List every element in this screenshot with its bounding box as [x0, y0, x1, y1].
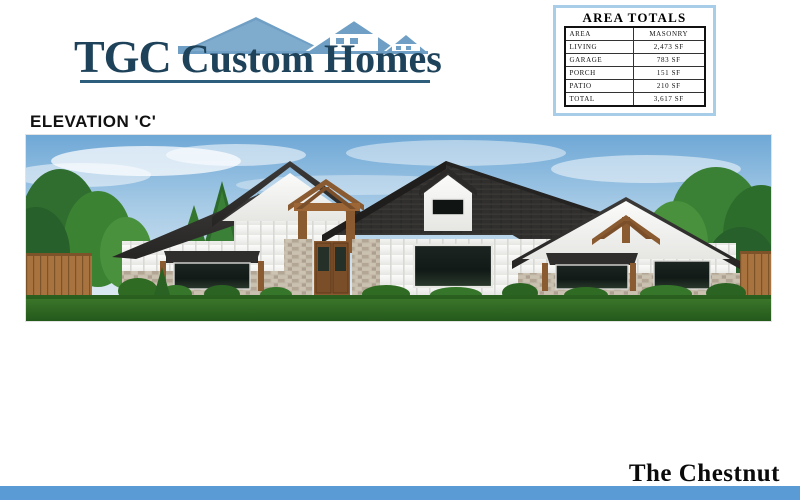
row-label-garage: GARAGE: [565, 54, 634, 67]
logo-name-rest: Custom Homes: [171, 36, 442, 81]
table-row: PATIO 210 SF: [565, 80, 705, 93]
table-row: GARAGE 783 SF: [565, 54, 705, 67]
column-header-masonry: MASONRY: [633, 27, 704, 41]
table-header-row: AREA MASONRY: [565, 27, 705, 41]
footer-accent-bar: [0, 486, 800, 500]
row-label-porch: PORCH: [565, 67, 634, 80]
row-value-garage: 783 SF: [633, 54, 704, 67]
row-value-total: 3,617 SF: [633, 93, 704, 107]
table-row: PORCH 151 SF: [565, 67, 705, 80]
tgc-custom-homes-logo: TGC Custom Homes: [74, 8, 434, 90]
row-label-living: LIVING: [565, 41, 634, 54]
table-row: LIVING 2,473 SF: [565, 41, 705, 54]
row-value-patio: 210 SF: [633, 80, 704, 93]
plan-name-title: The Chestnut: [629, 460, 780, 488]
elevation-label: ELEVATION 'C': [30, 112, 156, 132]
front-elevation-rendering: [25, 134, 772, 322]
row-value-living: 2,473 SF: [633, 41, 704, 54]
row-value-porch: 151 SF: [633, 67, 704, 80]
table-row: TOTAL 3,617 SF: [565, 93, 705, 107]
area-totals-panel: AREA TOTALS AREA MASONRY LIVING 2,473 SF…: [553, 5, 716, 116]
logo-wordmark: TGC Custom Homes: [74, 34, 434, 80]
column-header-area: AREA: [565, 27, 634, 41]
logo-underline-rule: [80, 80, 430, 83]
row-label-total: TOTAL: [565, 93, 634, 107]
row-label-patio: PATIO: [565, 80, 634, 93]
area-totals-title: AREA TOTALS: [556, 10, 713, 25]
area-totals-table: AREA MASONRY LIVING 2,473 SF GARAGE 783 …: [564, 26, 706, 107]
logo-initials: TGC: [74, 31, 171, 82]
